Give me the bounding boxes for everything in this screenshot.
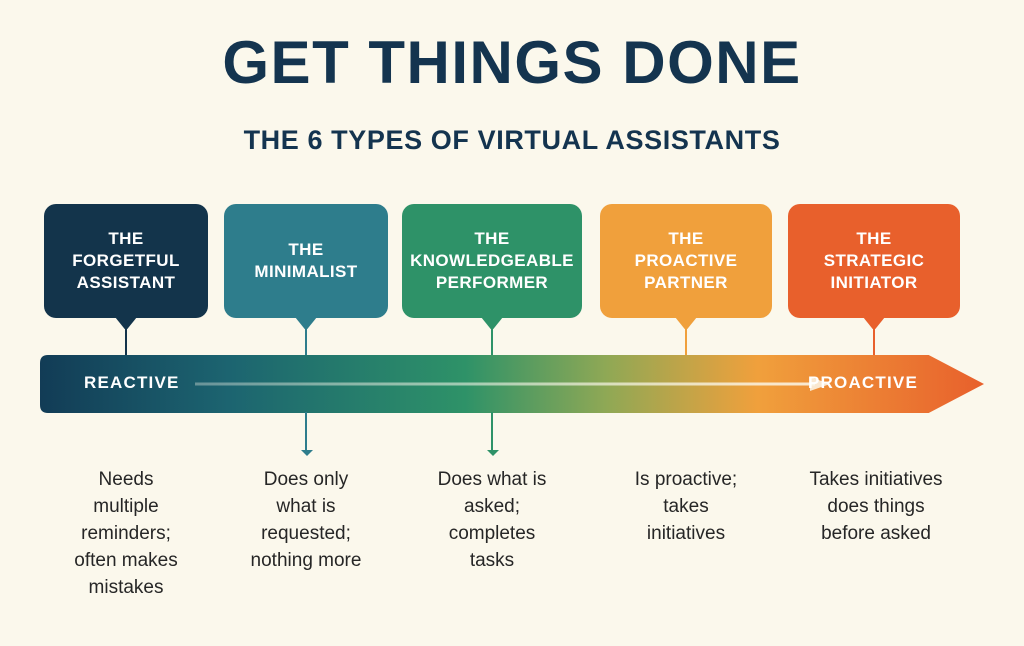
- card-tail-pointer: [481, 317, 503, 329]
- axis-label-proactive: PROACTIVE: [808, 373, 918, 393]
- assistant-card-label: THE PROACTIVE PARTNER: [635, 228, 738, 294]
- card-tail-pointer: [295, 317, 317, 329]
- connector-line-upper-3: [491, 329, 493, 357]
- connector-line-lower-2: [305, 412, 307, 454]
- infographic-poster: GET THINGS DONE THE 6 TYPES OF VIRTUAL A…: [0, 0, 1024, 646]
- connector-line-upper-5: [873, 329, 875, 357]
- page-subtitle: THE 6 TYPES OF VIRTUAL ASSISTANTS: [0, 124, 1024, 156]
- assistant-card-label: THE STRATEGIC INITIATOR: [824, 228, 925, 294]
- axis-label-reactive: REACTIVE: [84, 373, 180, 393]
- card-tail-pointer: [675, 317, 697, 329]
- assistant-card-2[interactable]: THE MINIMALIST: [224, 204, 388, 318]
- assistant-card-label: THE MINIMALIST: [254, 239, 357, 283]
- connector-line-upper-4: [685, 329, 687, 357]
- card-tail-pointer: [115, 317, 137, 329]
- assistant-card-3[interactable]: THE KNOWLEDGEABLE PERFORMER: [402, 204, 582, 318]
- page-title: GET THINGS DONE: [0, 32, 1024, 94]
- assistant-description-2: Does only what is requested; nothing mor…: [216, 466, 396, 574]
- assistant-card-label: THE KNOWLEDGEABLE PERFORMER: [410, 228, 574, 294]
- assistant-type-descriptions: Needs multiple reminders; often makes mi…: [44, 466, 980, 616]
- connector-foot-2: [301, 450, 313, 456]
- connector-line-upper-2: [305, 329, 307, 357]
- assistant-description-5: Takes initiatives does things before ask…: [772, 466, 980, 547]
- card-tail-pointer: [863, 317, 885, 329]
- connector-foot-3: [487, 450, 499, 456]
- assistant-card-label: THE FORGETFUL ASSISTANT: [72, 228, 179, 294]
- connector-line-upper-1: [125, 329, 127, 357]
- assistant-type-cards: THE FORGETFUL ASSISTANTTHE MINIMALISTTHE…: [44, 204, 980, 318]
- assistant-description-1: Needs multiple reminders; often makes mi…: [44, 466, 208, 601]
- assistant-description-4: Is proactive; takes initiatives: [600, 466, 772, 547]
- assistant-card-4[interactable]: THE PROACTIVE PARTNER: [600, 204, 772, 318]
- assistant-card-5[interactable]: THE STRATEGIC INITIATOR: [788, 204, 960, 318]
- reactive-proactive-arrow: REACTIVE PROACTIVE: [40, 355, 984, 413]
- assistant-description-3: Does what is asked; completes tasks: [412, 466, 572, 574]
- connector-line-lower-3: [491, 412, 493, 454]
- assistant-card-1[interactable]: THE FORGETFUL ASSISTANT: [44, 204, 208, 318]
